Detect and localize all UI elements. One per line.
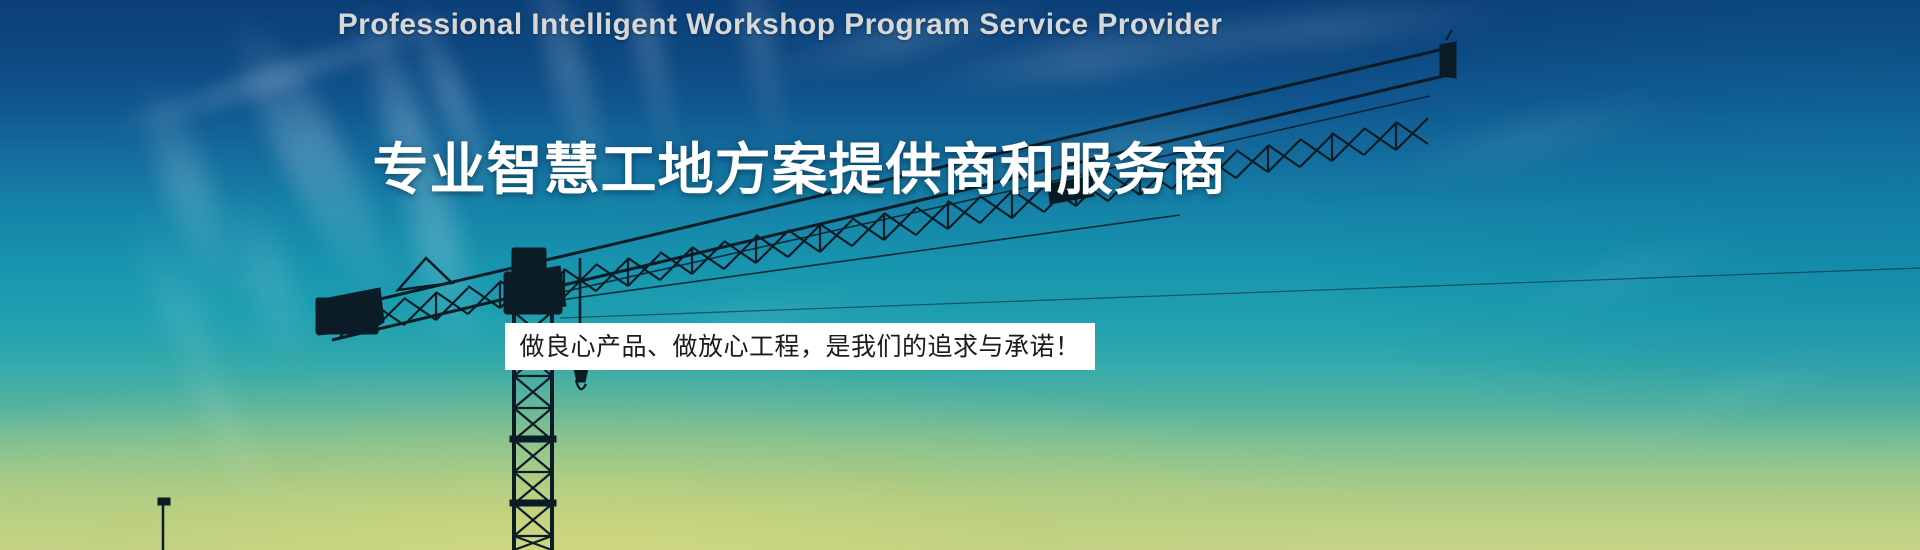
banner-chinese-title: 专业智慧工地方案提供商和服务商 bbox=[0, 125, 1920, 206]
banner-subtitle-container: 做良心产品、做放心工程，是我们的追求与承诺！ bbox=[0, 323, 1920, 370]
banner-subtitle-bar: 做良心产品、做放心工程，是我们的追求与承诺！ bbox=[505, 323, 1094, 370]
hero-banner: Professional Intelligent Workshop Progra… bbox=[0, 0, 1920, 550]
tower-crane-silhouette bbox=[0, 0, 1920, 550]
banner-english-title: Professional Intelligent Workshop Progra… bbox=[0, 8, 1920, 42]
